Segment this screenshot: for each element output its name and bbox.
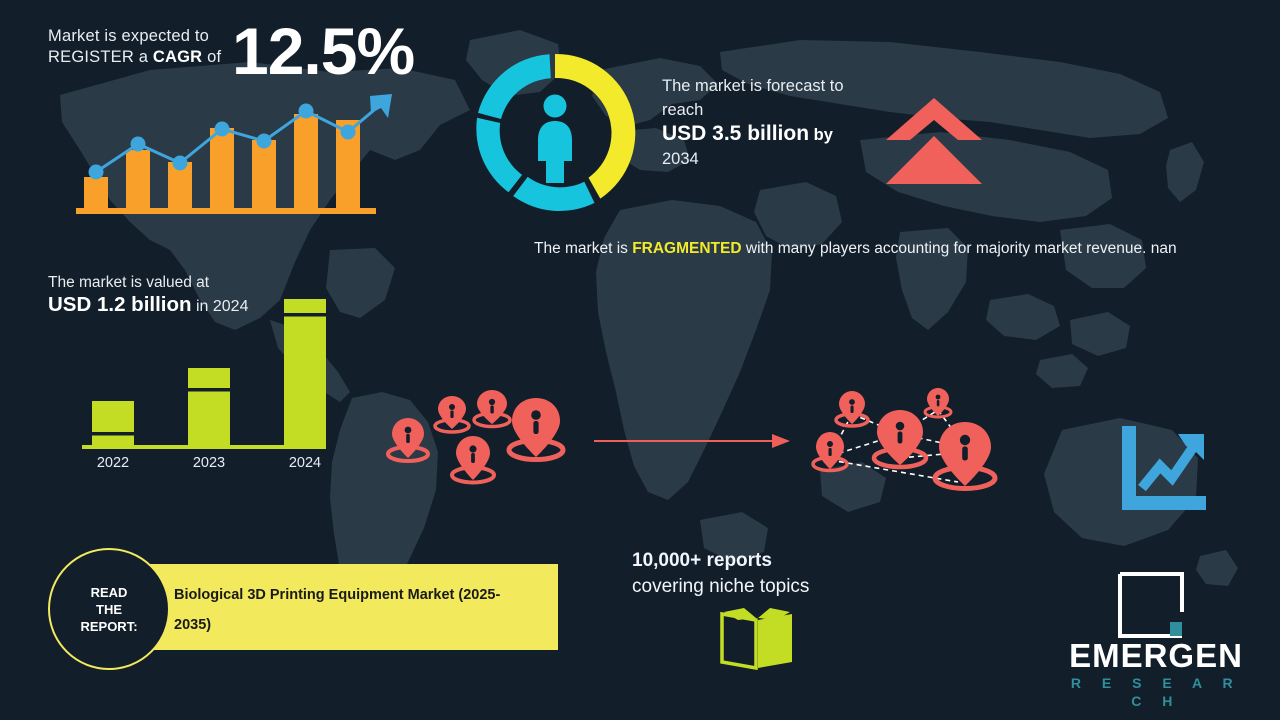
forecast-year: 2034 [662, 150, 699, 168]
map-pin-icon [813, 432, 847, 471]
logo-subtitle: R E S E A R C H [1058, 674, 1254, 710]
map-pin-icon [474, 390, 510, 427]
fragmented-text: The market is FRAGMENTED with many playe… [534, 237, 1214, 260]
bar-2024 [284, 299, 326, 445]
forecast-line2: reach [662, 101, 703, 119]
map-pin-icon [925, 388, 951, 417]
bar-2024-cap [284, 313, 326, 317]
map-pin-icon [388, 418, 428, 461]
growth-bar-line-chart [70, 88, 415, 218]
map-pin-icon [509, 398, 563, 460]
cagr-line2-post: of [202, 48, 221, 66]
map-pin-icon [874, 410, 926, 467]
scattered-location-pins [378, 388, 568, 493]
logo-wordmark: EMERGEN [1058, 638, 1254, 674]
axis-label-2022: 2022 [97, 455, 129, 471]
forecast-line1: The market is forecast to [662, 77, 844, 95]
bar-2023-cap [188, 388, 230, 392]
person-icon [538, 95, 572, 184]
double-up-chevron-icon [884, 96, 984, 186]
map-pin-icon [435, 396, 469, 432]
map-pin-icon [935, 422, 995, 489]
read-the-report-button[interactable]: READ THE REPORT: [48, 548, 170, 670]
forecast-by: by [809, 126, 833, 144]
valuation-lead: The market is valued at [48, 274, 209, 291]
emergen-research-logo: EMERGEN R E S E A R C H [1058, 572, 1254, 694]
reports-count-text: 10,000+ reports covering niche topics [632, 548, 882, 600]
bar-2022-cap [92, 432, 134, 436]
cagr-line2-bold: CAGR [153, 48, 202, 66]
cagr-line2-pre: REGISTER a [48, 48, 153, 66]
reports-line1: 10,000+ reports [632, 550, 772, 571]
donut-segment-cyan-2 [476, 118, 522, 193]
axis-label-2024: 2024 [289, 455, 321, 471]
report-title-text: Biological 3D Printing Equipment Market … [174, 580, 524, 640]
right-arrow-icon [592, 430, 792, 452]
report-title-banner[interactable]: Biological 3D Printing Equipment Market … [148, 564, 558, 650]
bar-2022 [92, 401, 134, 445]
open-book-icon [718, 608, 796, 670]
logo-square-mark [1118, 572, 1184, 638]
axis-label-2023: 2023 [193, 455, 225, 471]
map-pin-icon [836, 391, 868, 426]
chart-baseline [76, 208, 376, 214]
valuation-bar-chart: 2022 2023 2024 [78, 295, 340, 473]
donut-segment-cyan-3 [478, 54, 551, 119]
cagr-lead-text: Market is expected to REGISTER a CAGR of [48, 26, 248, 68]
cta-line3: REPORT: [80, 619, 137, 634]
market-share-donut-chart [470, 48, 640, 218]
cagr-value: 12.5% [232, 18, 414, 84]
forecast-value: USD 3.5 billion [662, 122, 809, 145]
map-pin-icon [452, 436, 494, 483]
growth-arrow-icon [1116, 424, 1208, 512]
fragmented-highlight: FRAGMENTED [632, 240, 741, 257]
cagr-line1: Market is expected to [48, 27, 209, 45]
cta-line2: THE [96, 602, 122, 617]
read-the-report-label: READ THE REPORT: [80, 584, 137, 635]
bar-2023 [188, 368, 230, 445]
valuation-baseline [82, 445, 326, 449]
connected-location-pins [808, 386, 1003, 498]
trend-arrow-head [370, 94, 392, 118]
infographic-canvas: Market is expected to REGISTER a CAGR of… [0, 0, 1280, 720]
forecast-text-block: The market is forecast to reach USD 3.5 … [662, 74, 887, 171]
fragmented-post: with many players accounting for majorit… [742, 240, 1177, 257]
valuation-bars [92, 299, 326, 445]
reports-line2: covering niche topics [632, 576, 809, 597]
fragmented-pre: The market is [534, 240, 632, 257]
cta-line1: READ [91, 585, 128, 600]
